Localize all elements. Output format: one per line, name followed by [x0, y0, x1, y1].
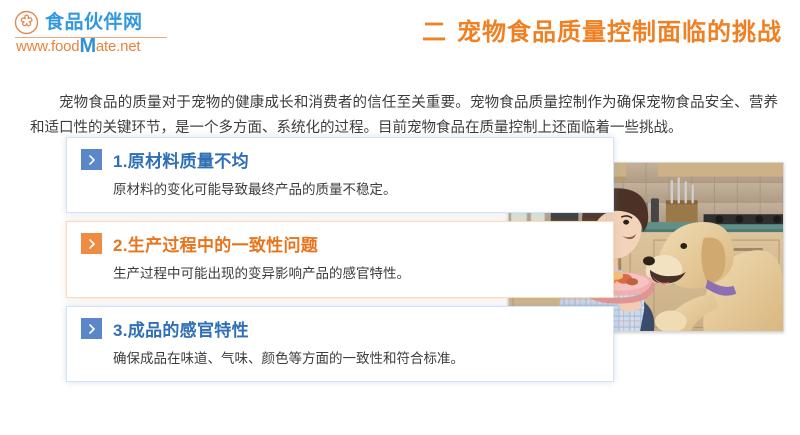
- logo-brand-name: 食品伙伴网: [45, 10, 143, 35]
- challenge-card-3[interactable]: 3.成品的感官特性 确保成品在味道、气味、颜色等方面的一致性和符合标准。: [66, 306, 614, 382]
- site-logo[interactable]: 食品伙伴网 www.foodMate.net: [14, 9, 174, 53]
- logo-url-suffix: ate.net: [96, 38, 140, 55]
- flower-circle-emblem-icon: [14, 10, 39, 35]
- logo-url: www.foodMate.net: [16, 38, 140, 55]
- challenge-card-1-head: 1.原材料质量不均: [81, 148, 599, 171]
- challenge-card-2-title: 2.生产过程中的一致性问题: [113, 231, 318, 256]
- logo-url-accent: M: [79, 35, 95, 57]
- page-title-text: 宠物食品质量控制面临的挑战: [457, 19, 782, 46]
- logo-top-row: 食品伙伴网: [14, 9, 174, 35]
- chevron-right-icon: [81, 233, 102, 254]
- chevron-right-icon: [81, 318, 102, 339]
- page-header: 食品伙伴网 www.foodMate.net 二宠物食品质量控制面临的挑战: [0, 0, 800, 62]
- intro-paragraph: 宠物食品的质量对于宠物的健康成长和消费者的信任至关重要。宠物食品质量控制作为确保…: [30, 91, 778, 141]
- logo-url-prefix: www.food: [16, 38, 79, 55]
- challenge-card-1-title: 1.原材料质量不均: [113, 147, 249, 172]
- challenge-card-2-description: 生产过程中可能出现的变异影响产品的感官特性。: [113, 264, 599, 284]
- challenge-card-1[interactable]: 1.原材料质量不均 原材料的变化可能导致最终产品的质量不稳定。: [66, 137, 614, 213]
- challenge-card-2[interactable]: 2.生产过程中的一致性问题 生产过程中可能出现的变异影响产品的感官特性。: [66, 221, 614, 298]
- challenge-card-2-head: 2.生产过程中的一致性问题: [81, 232, 599, 255]
- challenge-card-3-description: 确保成品在味道、气味、颜色等方面的一致性和符合标准。: [113, 349, 599, 369]
- challenge-card-3-title: 3.成品的感官特性: [113, 316, 249, 341]
- challenge-card-1-description: 原材料的变化可能导致最终产品的质量不稳定。: [113, 180, 599, 200]
- chevron-right-icon: [81, 149, 102, 170]
- challenge-card-3-head: 3.成品的感官特性: [81, 317, 599, 340]
- page-title-number: 二: [422, 19, 447, 46]
- page-title: 二宠物食品质量控制面临的挑战: [422, 12, 782, 47]
